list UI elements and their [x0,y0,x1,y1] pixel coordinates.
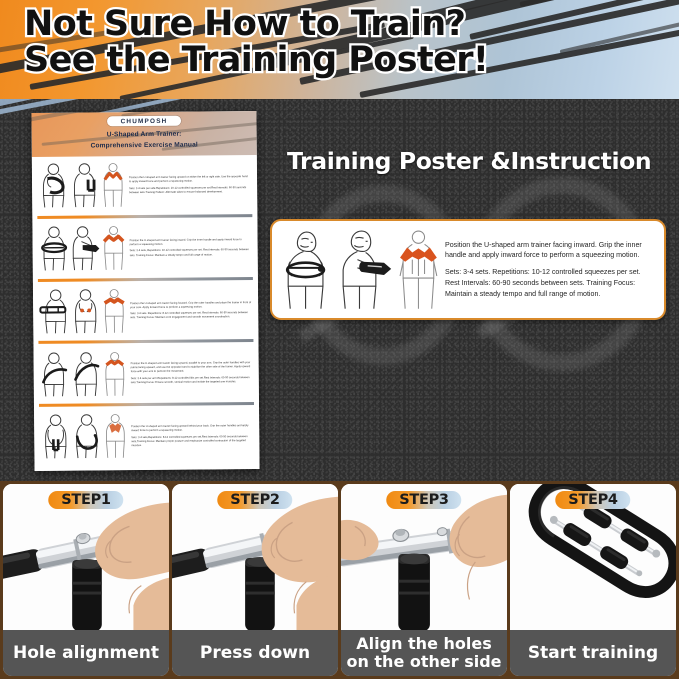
figure-upward-stabilize-icon [70,350,101,398]
step-badge-4: STEP4 [555,491,630,509]
poster-header: CHUMPOSH U-Shaped Arm Trainer: Comprehen… [31,111,256,157]
step-badge-1: STEP1 [48,491,123,509]
poster-row: Position the U-shaped arm trainer facing… [38,281,254,342]
poster-row-details: Sets: 3-4 sets, Repetitions: 10-12 contr… [130,249,251,258]
callout-paragraph-2: Sets: 3-4 sets. Repetitions: 10-12 contr… [445,267,655,299]
figure-behind-back-grip-icon [71,413,102,461]
poster-row-instruction: Position the U-shaped arm trainer facing… [131,424,252,433]
infographic-page: Not Sure How to Train? See the Training … [0,0,679,679]
headline-banner: Not Sure How to Train? See the Training … [0,0,679,101]
poster-body: Position the U-shaped arm trainer facing… [32,155,260,471]
banner-headline: Not Sure How to Train? See the Training … [24,6,488,79]
step-caption-1: Hole alignment [3,630,169,676]
figure-muscle-map-icon [102,413,129,461]
section-title: Training Poster &Instruction [287,147,651,175]
poster-brand-badge: CHUMPOSH [107,116,182,127]
poster-row-text: Position the U-shaped arm trainer facing… [131,361,253,385]
figure-muscle-map-icon [100,224,127,272]
poster-title: U-Shaped Arm Trainer: Comprehensive Exer… [32,129,257,153]
figure-behind-back-icon [40,413,71,461]
poster-row-instruction: Position the U-shaped arm trainer facing… [130,238,251,247]
poster-row-instruction: Position the U-shaped arm trainer facing… [130,301,251,310]
figure-side-squeeze-icon [38,162,69,210]
step-image-2: STEP2 [172,484,338,630]
figure-inward-squeeze-large-icon [279,229,332,311]
poster-row-figures [40,409,128,465]
poster-row: Position the U-shaped arm trainer facing… [39,406,255,467]
step-panel-1[interactable]: STEP1 Hole alignment [3,484,169,676]
poster-row-text: Position the U-shaped arm trainer facing… [131,424,253,448]
figure-forward-core-icon [70,287,101,335]
step-badge-3: STEP3 [386,491,461,509]
figure-muscle-map-icon [100,161,127,209]
step-image-3: STEP3 [341,484,507,630]
figure-side-squeeze-back-icon [69,162,100,210]
poster-row-details: Sets: 3-4 sets. Repetitions: 8-12 contro… [130,311,251,320]
poster-row: Position the U-shaped arm trainer facing… [37,218,253,279]
step-caption-3: Align the holes on the other side [341,630,507,676]
poster-row-instruction: Position the U-shaped arm trainer facing… [131,361,252,374]
step-caption-4: Start training [510,630,676,676]
step-panel-2[interactable]: STEP2 Press down [172,484,338,676]
poster-row-text: Position the U-shaped arm trainer facing… [130,238,252,258]
poster-row-details: Sets: 3-4 sets,Repetitions: 8-12 control… [131,435,252,448]
figure-muscle-map-large-icon [398,229,439,311]
figure-inward-press-icon [69,224,100,272]
mid-section: CHUMPOSH U-Shaped Arm Trainer: Comprehen… [0,99,679,481]
figure-inward-squeeze-icon [38,225,69,273]
poster-row-details: Sets: 3-4 sets per arm.Repetitions: 8-12… [131,376,252,385]
step-panel-3[interactable]: STEP3 Align the holes on the other side [341,484,507,676]
step-caption-2: Press down [172,630,338,676]
poster-row-text: Position the U-shaped arm trainer facing… [130,301,252,321]
poster-row-figures [39,347,127,403]
training-poster[interactable]: CHUMPOSH U-Shaped Arm Trainer: Comprehen… [31,111,259,471]
step-image-1: STEP1 [3,484,169,630]
figure-muscle-map-icon [101,287,128,335]
callout-paragraph-1: Position the U-shaped arm trainer facing… [445,240,655,262]
poster-row-details: Sets: 3-4 sets per side.Repetitions: 10-… [129,186,250,195]
poster-row-instruction: Position the U-shaped arm trainer facing… [129,175,250,184]
poster-row: Position the U-shaped arm trainer facing… [38,343,254,404]
assembly-steps: STEP1 Hole alignment [0,481,679,679]
instruction-callout: Position the U-shaped arm trainer facing… [270,219,666,320]
poster-row-figures [38,221,126,277]
banner-headline-line1: Not Sure How to Train? [24,4,465,44]
figure-inward-press-large-icon [337,229,394,311]
figure-forward-squeeze-icon [39,288,70,336]
banner-headline-line2: See the Training Poster! [24,42,488,78]
figure-upward-curl-icon [40,350,71,398]
step-badge-2: STEP2 [217,491,292,509]
step-panel-4[interactable]: STEP4 Start training [510,484,676,676]
poster-row-text: Position the U-shaped arm trainer facing… [129,175,251,195]
poster-row-figures [38,158,126,214]
step-image-4: STEP4 [510,484,676,630]
poster-row-figures [39,284,127,340]
figure-muscle-map-icon [101,350,128,398]
poster-title-line2: Comprehensive Exercise Manual [32,140,257,153]
callout-text: Position the U-shaped arm trainer facing… [445,240,655,300]
poster-row: Position the U-shaped arm trainer facing… [37,155,253,216]
callout-figures [279,226,439,313]
